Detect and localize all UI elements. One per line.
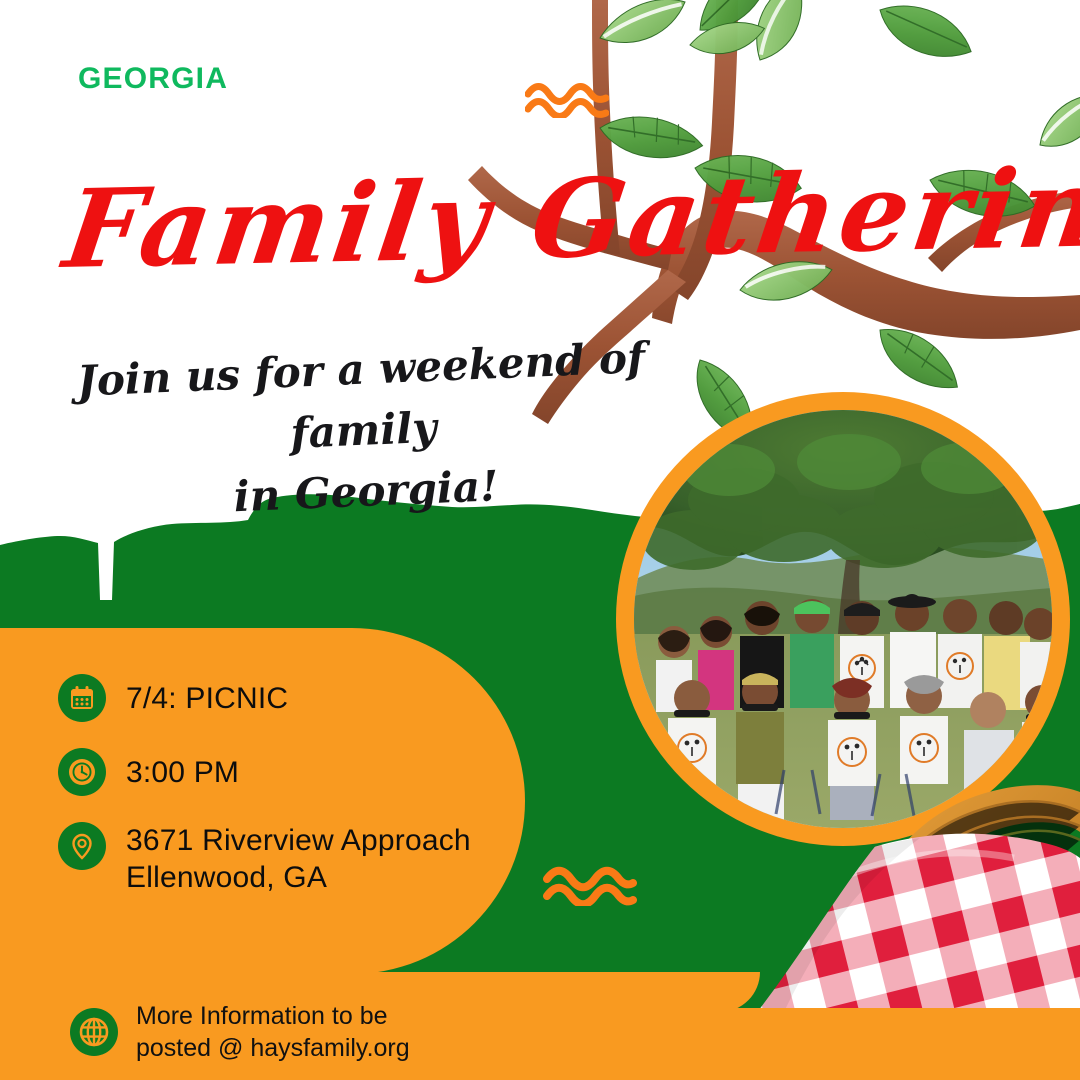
event-details-list: 7/4: PICNIC 3:00 PM (0, 628, 540, 974)
detail-row-time: 3:00 PM (58, 748, 540, 796)
subtitle-line-1: Join us for a weekend of family (76, 333, 646, 458)
location-pin-icon (58, 822, 106, 870)
text-layer: GEORGIA Family Gathering Join us for a w… (0, 0, 1080, 1080)
detail-row-address: 3671 Riverview Approach Ellenwood, GA (58, 822, 540, 896)
calendar-icon (58, 674, 106, 722)
page-title: Family Gathering (59, 153, 1080, 284)
subtitle-line-2: in Georgia! (75, 449, 657, 534)
detail-time-text: 3:00 PM (126, 748, 239, 792)
detail-address-text: 3671 Riverview Approach Ellenwood, GA (126, 822, 471, 896)
detail-date-text: 7/4: PICNIC (126, 674, 288, 718)
page-subtitle: Join us for a weekend of family in Georg… (70, 328, 657, 535)
page-kicker: GEORGIA (78, 62, 228, 96)
flyer-canvas: More Information to be posted @ haysfami… (0, 0, 1080, 1080)
clock-icon (58, 748, 106, 796)
detail-row-date: 7/4: PICNIC (58, 674, 540, 722)
